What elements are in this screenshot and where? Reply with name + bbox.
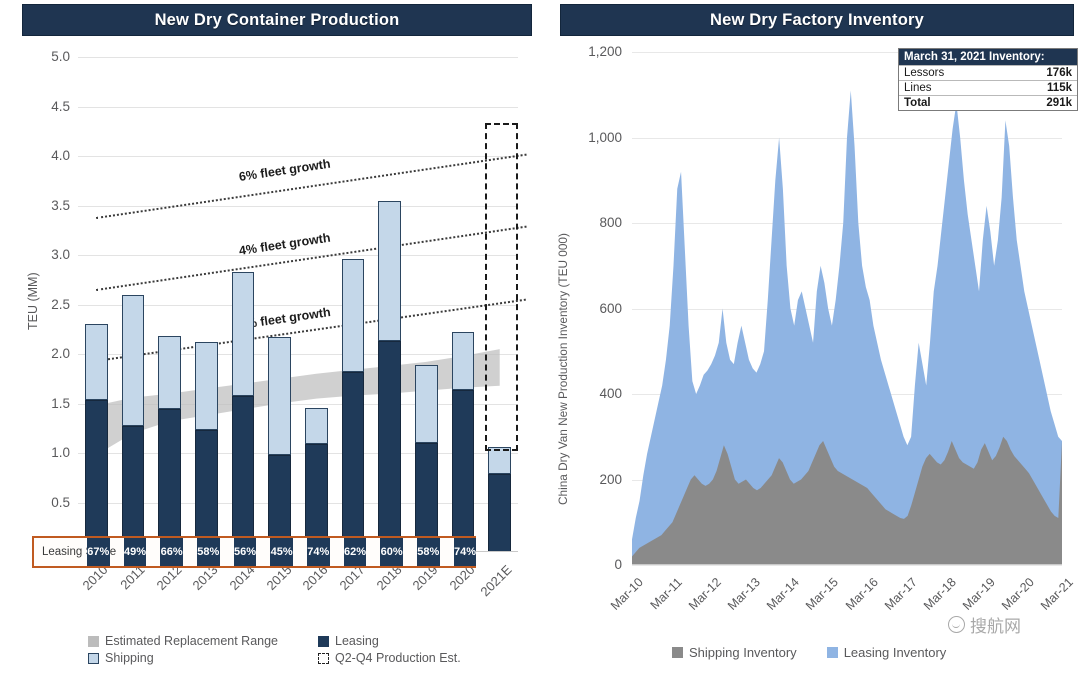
bar-segment-leasing [232,396,255,552]
bar-segment-leasing [158,409,181,552]
replacement-range-swatch-icon [88,636,99,647]
y-axis-tick-label: 4.0 [24,149,70,163]
bar-segment-leasing [452,390,475,552]
legend-item-production-estimate: Q2-Q4 Production Est. [318,651,461,665]
inventory-row-label: Lessors [904,67,944,79]
y-axis-tick-label: 2.5 [24,298,70,312]
y-axis-tick-label: 1,000 [570,131,622,145]
bar-column[interactable] [342,57,365,552]
right-chart-title-bar: New Dry Factory Inventory [560,4,1074,36]
production-estimate-swatch-icon [318,653,329,664]
bar-segment-leasing [122,426,145,552]
shipping-swatch-icon [88,653,99,664]
legend-item-leasing: Leasing [318,634,379,648]
y-axis-tick-label: 0.5 [24,496,70,510]
leasing-share-cell: 66% [160,538,183,566]
legend-label-shipping-inventory: Shipping Inventory [689,645,797,660]
replacement-range-area [96,349,499,455]
bar-segment-shipping [415,365,438,443]
inventory-table-row: Lines115k [899,80,1077,95]
bar-segment-shipping [378,201,401,342]
right-plot-area: 1,2001,0008006004002000 Mar-10Mar-11Mar-… [632,52,1062,565]
watermark: 搜航网 [948,612,1021,637]
legend-item-replacement-range: Estimated Replacement Range [88,634,318,648]
bar-column[interactable] [415,57,438,552]
bar-column[interactable] [232,57,255,552]
bar-segment-shipping [232,272,255,396]
bar-segment-leasing [195,430,218,552]
leasing-share-cell: 45% [270,538,293,566]
inventory-table-row: Total291k [899,95,1077,110]
legend-label-shipping: Shipping [105,651,154,665]
leasing-share-cell: 74% [307,538,330,566]
bar-column[interactable] [268,57,291,552]
bar-segment-leasing [85,400,108,552]
y-axis-tick-label: 5.0 [24,50,70,64]
leasing-share-cell: 60% [380,538,403,566]
leasing-share-cell: 74% [454,538,477,566]
y-axis-tick-label: 2.0 [24,347,70,361]
left-chart-title: New Dry Container Production [155,11,400,30]
bar-segment-leasing [342,372,365,552]
bar-column[interactable] [195,57,218,552]
inventory-row-label: Total [904,97,931,109]
left-chart-legend: Estimated Replacement Range Leasing Ship… [88,634,518,668]
inventory-summary-table: March 31, 2021 Inventory: Lessors176kLin… [898,48,1078,111]
q2-q4-production-estimate-box [485,123,518,451]
watermark-text: 搜航网 [970,612,1021,637]
inventory-area-series [632,52,1062,565]
legend-label-leasing-inventory: Leasing Inventory [844,645,947,660]
leasing-share-strip: Leasing Share 67%49%66%58%56%45%74%62%60… [32,536,476,568]
leasing-share-cell: 58% [197,538,220,566]
inventory-row-value: 291k [1046,97,1072,109]
inventory-table-header: March 31, 2021 Inventory: [899,49,1077,65]
bar-segment-shipping [305,408,328,444]
leasing-share-cell: 58% [417,538,440,566]
y-axis-tick-label: 200 [570,473,622,487]
leasing-share-cell: 56% [234,538,257,566]
right-chart-title: New Dry Factory Inventory [710,11,924,30]
left-plot-area: 5.04.54.03.53.02.52.01.51.00.5 6% fleet … [78,57,518,552]
watermark-logo-icon [948,616,965,633]
y-axis-tick-label: 1.5 [24,397,70,411]
y-axis-tick-label: 400 [570,387,622,401]
legend-label-replacement-range: Estimated Replacement Range [105,634,278,648]
gridline [632,565,1062,566]
bar-segment-shipping [158,336,181,409]
inventory-row-label: Lines [904,82,932,94]
legend-item-shipping-inventory: Shipping Inventory [672,645,797,660]
legend-item-leasing-inventory: Leasing Inventory [827,645,947,660]
right-chart-legend: Shipping Inventory Leasing Inventory [672,645,976,660]
bar-segment-shipping [195,342,218,430]
leasing-share-cell: 49% [124,538,147,566]
right-baseline [632,564,1062,565]
leasing-swatch-icon [318,636,329,647]
y-axis-tick-label: 800 [570,216,622,230]
legend-item-shipping: Shipping [88,651,318,665]
inventory-row-value: 176k [1046,67,1072,79]
legend-label-production-estimate: Q2-Q4 Production Est. [335,651,461,665]
dual-chart-page: New Dry Container Production TEU (MM) 5.… [0,0,1080,675]
leasing-inventory-swatch-icon [827,647,838,658]
bar-segment-leasing [488,474,511,552]
bar-segment-shipping [342,259,365,372]
y-axis-tick-label: 600 [570,302,622,316]
bar-column[interactable] [378,57,401,552]
shipping-inventory-swatch-icon [672,647,683,658]
legend-label-leasing: Leasing [335,634,379,648]
right-y-axis-label: China Dry Van New Production Inventory (… [556,233,570,505]
left-chart-title-bar: New Dry Container Production [22,4,532,36]
y-axis-tick-label: 0 [570,558,622,572]
bar-segment-shipping [85,324,108,399]
leasing-share-cell: 62% [344,538,367,566]
bar-column[interactable] [122,57,145,552]
inventory-table-row: Lessors176k [899,65,1077,80]
y-axis-tick-label: 3.0 [24,248,70,262]
inventory-table-rows: Lessors176kLines115kTotal291k [899,65,1077,110]
y-axis-tick-label: 3.5 [24,199,70,213]
left-chart-panel: New Dry Container Production TEU (MM) 5.… [0,0,540,675]
bar-segment-shipping [268,337,291,455]
bar-column[interactable] [158,57,181,552]
bar-segment-shipping [488,447,511,474]
inventory-row-value: 115k [1047,82,1072,94]
y-axis-tick-label: 1.0 [24,446,70,460]
y-axis-tick-label: 1,200 [570,45,622,59]
bar-segment-leasing [378,341,401,552]
bar-column[interactable] [85,57,108,552]
leasing-share-cell: 67% [87,538,110,566]
bar-column[interactable] [305,57,328,552]
bar-segment-shipping [122,295,145,427]
bar-segment-shipping [452,332,475,389]
bar-column[interactable] [452,57,475,552]
y-axis-tick-label: 4.5 [24,100,70,114]
